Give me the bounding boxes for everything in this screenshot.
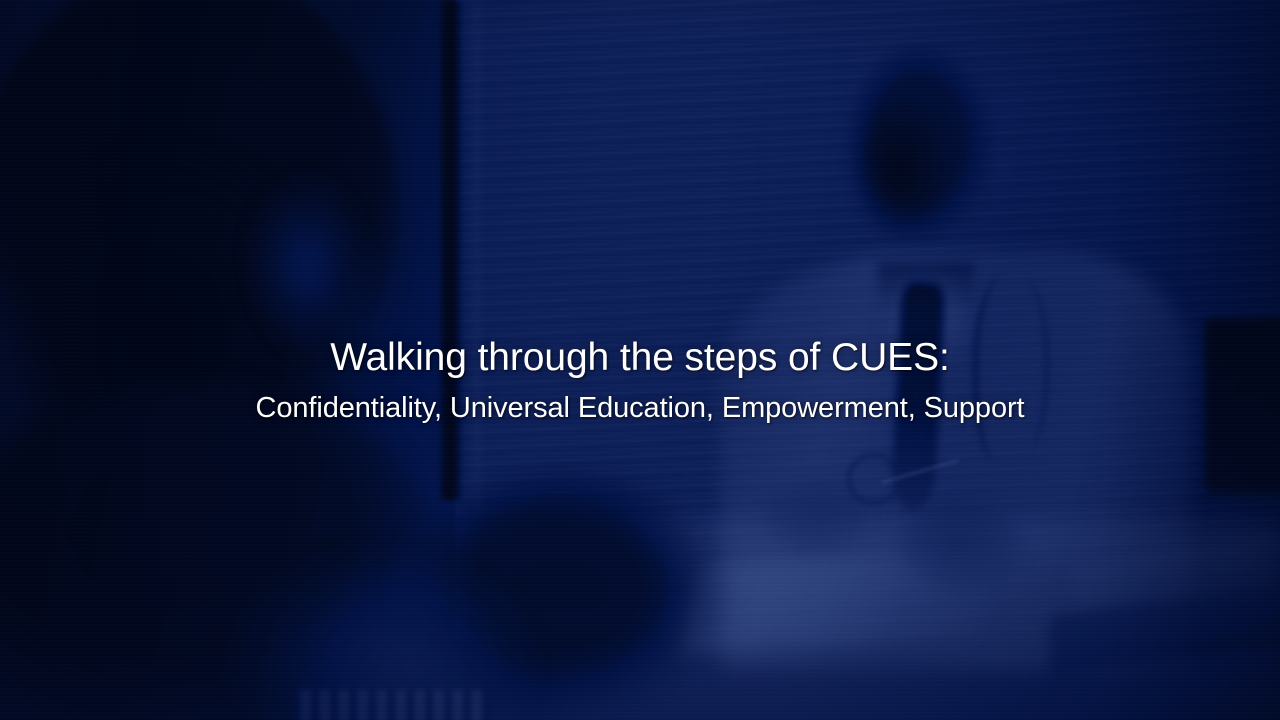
slide-subtitle: Confidentiality, Universal Education, Em… <box>0 392 1280 425</box>
presentation-slide: Walking through the steps of CUES: Confi… <box>0 0 1280 720</box>
slide-caption-block: Walking through the steps of CUES: Confi… <box>0 336 1280 425</box>
slide-title: Walking through the steps of CUES: <box>0 336 1280 380</box>
